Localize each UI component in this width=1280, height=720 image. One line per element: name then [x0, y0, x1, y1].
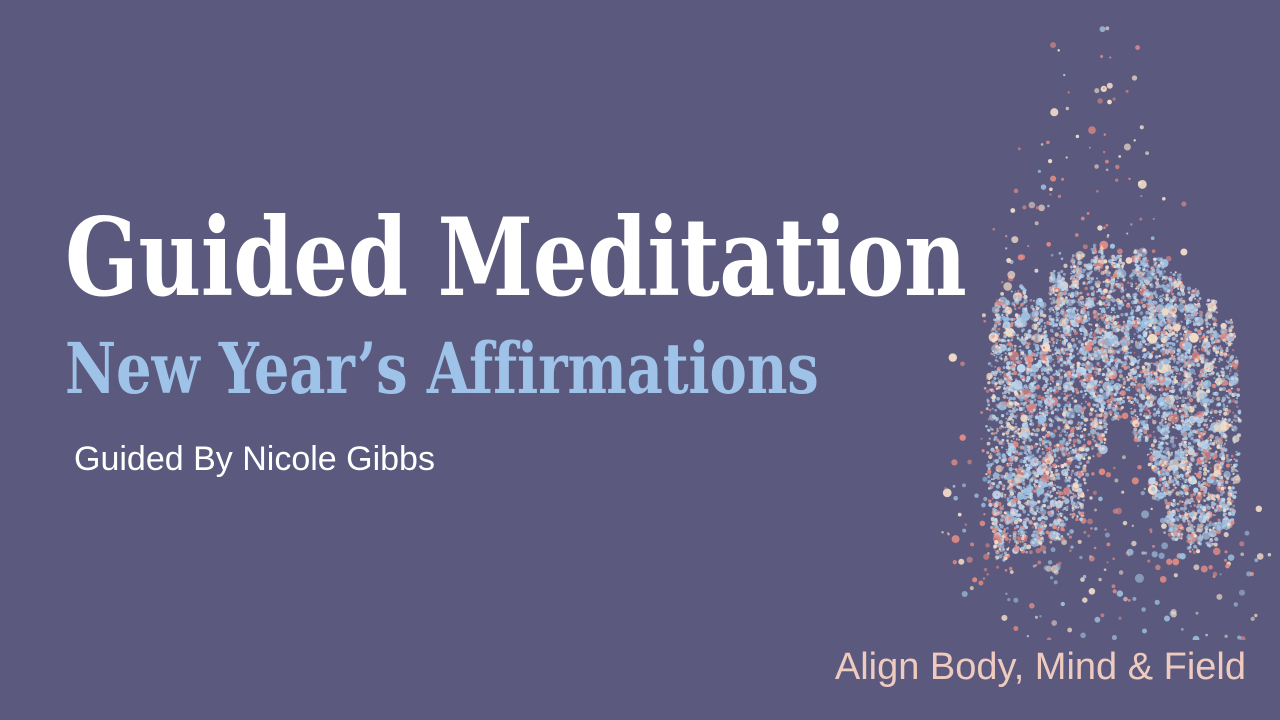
byline: Guided By Nicole Gibbs [74, 442, 965, 476]
particle-burst-meditation-figure-artwork [940, 0, 1280, 640]
page-subtitle: New Year’s Affirmations [65, 334, 785, 404]
page-title: Guided Meditation [65, 204, 785, 312]
sparse-particles [941, 26, 1271, 640]
tagline: Align Body, Mind & Field [835, 648, 1246, 686]
slide-canvas: Guided Meditation New Year’s Affirmation… [0, 0, 1280, 720]
streak-particles [985, 241, 1242, 562]
title-text-block: Guided Meditation New Year’s Affirmation… [65, 204, 965, 476]
